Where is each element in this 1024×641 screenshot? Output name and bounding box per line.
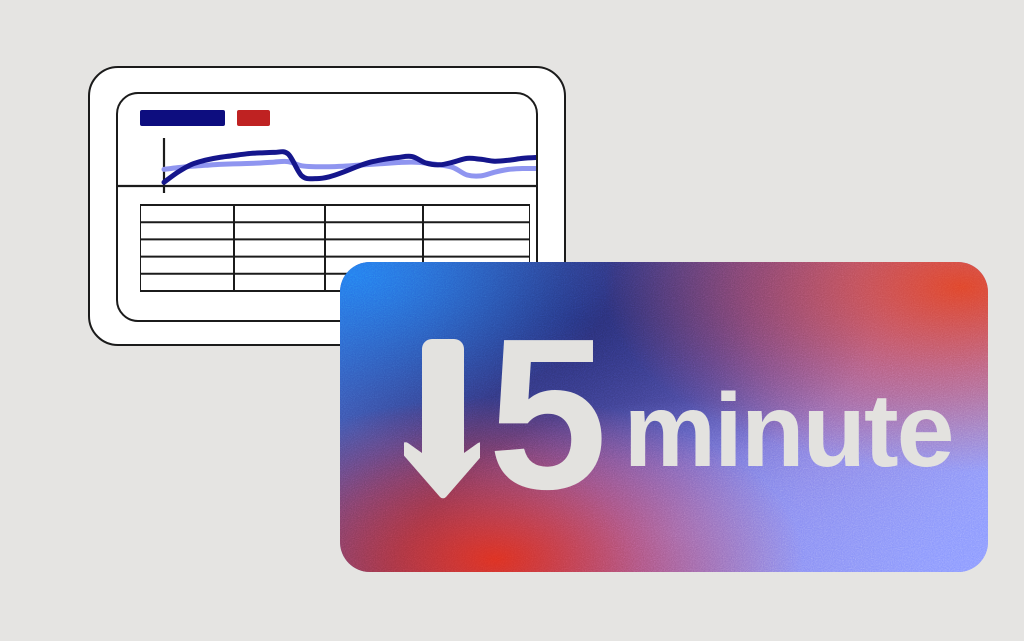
screenshot-stage: 5 minute xyxy=(0,0,1024,641)
line-chart-canvas xyxy=(118,136,538,196)
line-chart xyxy=(118,136,538,196)
card-content: 5 minute xyxy=(340,262,988,572)
arrow-down-icon xyxy=(404,333,480,501)
promo-number: 5 xyxy=(488,328,602,500)
legend-swatch-series-red xyxy=(237,110,270,126)
chart-legend xyxy=(140,110,270,126)
legend-swatch-series-navy xyxy=(140,110,225,126)
promo-unit-label: minute xyxy=(624,385,953,479)
five-minute-promo-card: 5 minute xyxy=(340,262,988,572)
